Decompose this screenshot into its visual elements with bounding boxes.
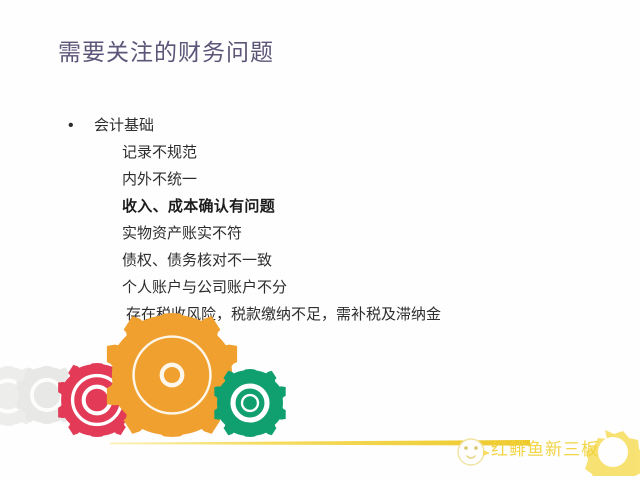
page-title: 需要关注的财务问题	[58, 36, 274, 68]
list-item: 实物资产账实不符	[0, 220, 640, 247]
list-item: 个人账户与公司账户不分	[0, 274, 640, 301]
slide-canvas: 需要关注的财务问题 • 会计基础 记录不规范 内外不统一 收入、成本确认有问题 …	[0, 0, 640, 480]
list-item-label: 实物资产账实不符	[122, 220, 242, 247]
gear-pink-icon	[58, 363, 136, 437]
list-item-level1: • 会计基础	[0, 112, 640, 139]
list-item-highlighted: 收入、成本确认有问题	[0, 193, 640, 220]
bullet-list: • 会计基础 记录不规范 内外不统一 收入、成本确认有问题 实物资产账实不符 债…	[0, 112, 640, 355]
list-item-label: 内外不统一	[122, 166, 197, 193]
list-item: 存在税收风险，税款缴纳不足，需补税及滞纳金	[0, 301, 640, 328]
gear-teal-icon	[214, 369, 285, 437]
list-item-label: 会计基础	[94, 112, 154, 139]
watermark: 红鲱鱼新三板	[455, 428, 640, 476]
watermark-label: 红鲱鱼新三板	[491, 438, 599, 462]
list-item-label: 个人账户与公司账户不分	[122, 274, 287, 301]
list-item: 债权、债务核对不一致	[0, 247, 640, 274]
list-item: 内外不统一	[0, 166, 640, 193]
list-item: 记录不规范	[0, 139, 640, 166]
gear-gray-far-left-icon	[0, 366, 39, 426]
list-item-label: 存在税收风险，税款缴纳不足，需补税及滞纳金	[126, 301, 441, 328]
list-item-label: 债权、债务核对不一致	[122, 247, 272, 274]
list-item-label: 收入、成本确认有问题	[122, 193, 275, 220]
bullet-icon: •	[68, 112, 74, 139]
gear-gray-left-icon	[17, 366, 78, 424]
list-item-label: ……	[124, 328, 156, 355]
list-item-label: 记录不规范	[122, 139, 197, 166]
list-item-continuation: ……	[0, 328, 640, 355]
bird-face-icon	[458, 439, 490, 465]
